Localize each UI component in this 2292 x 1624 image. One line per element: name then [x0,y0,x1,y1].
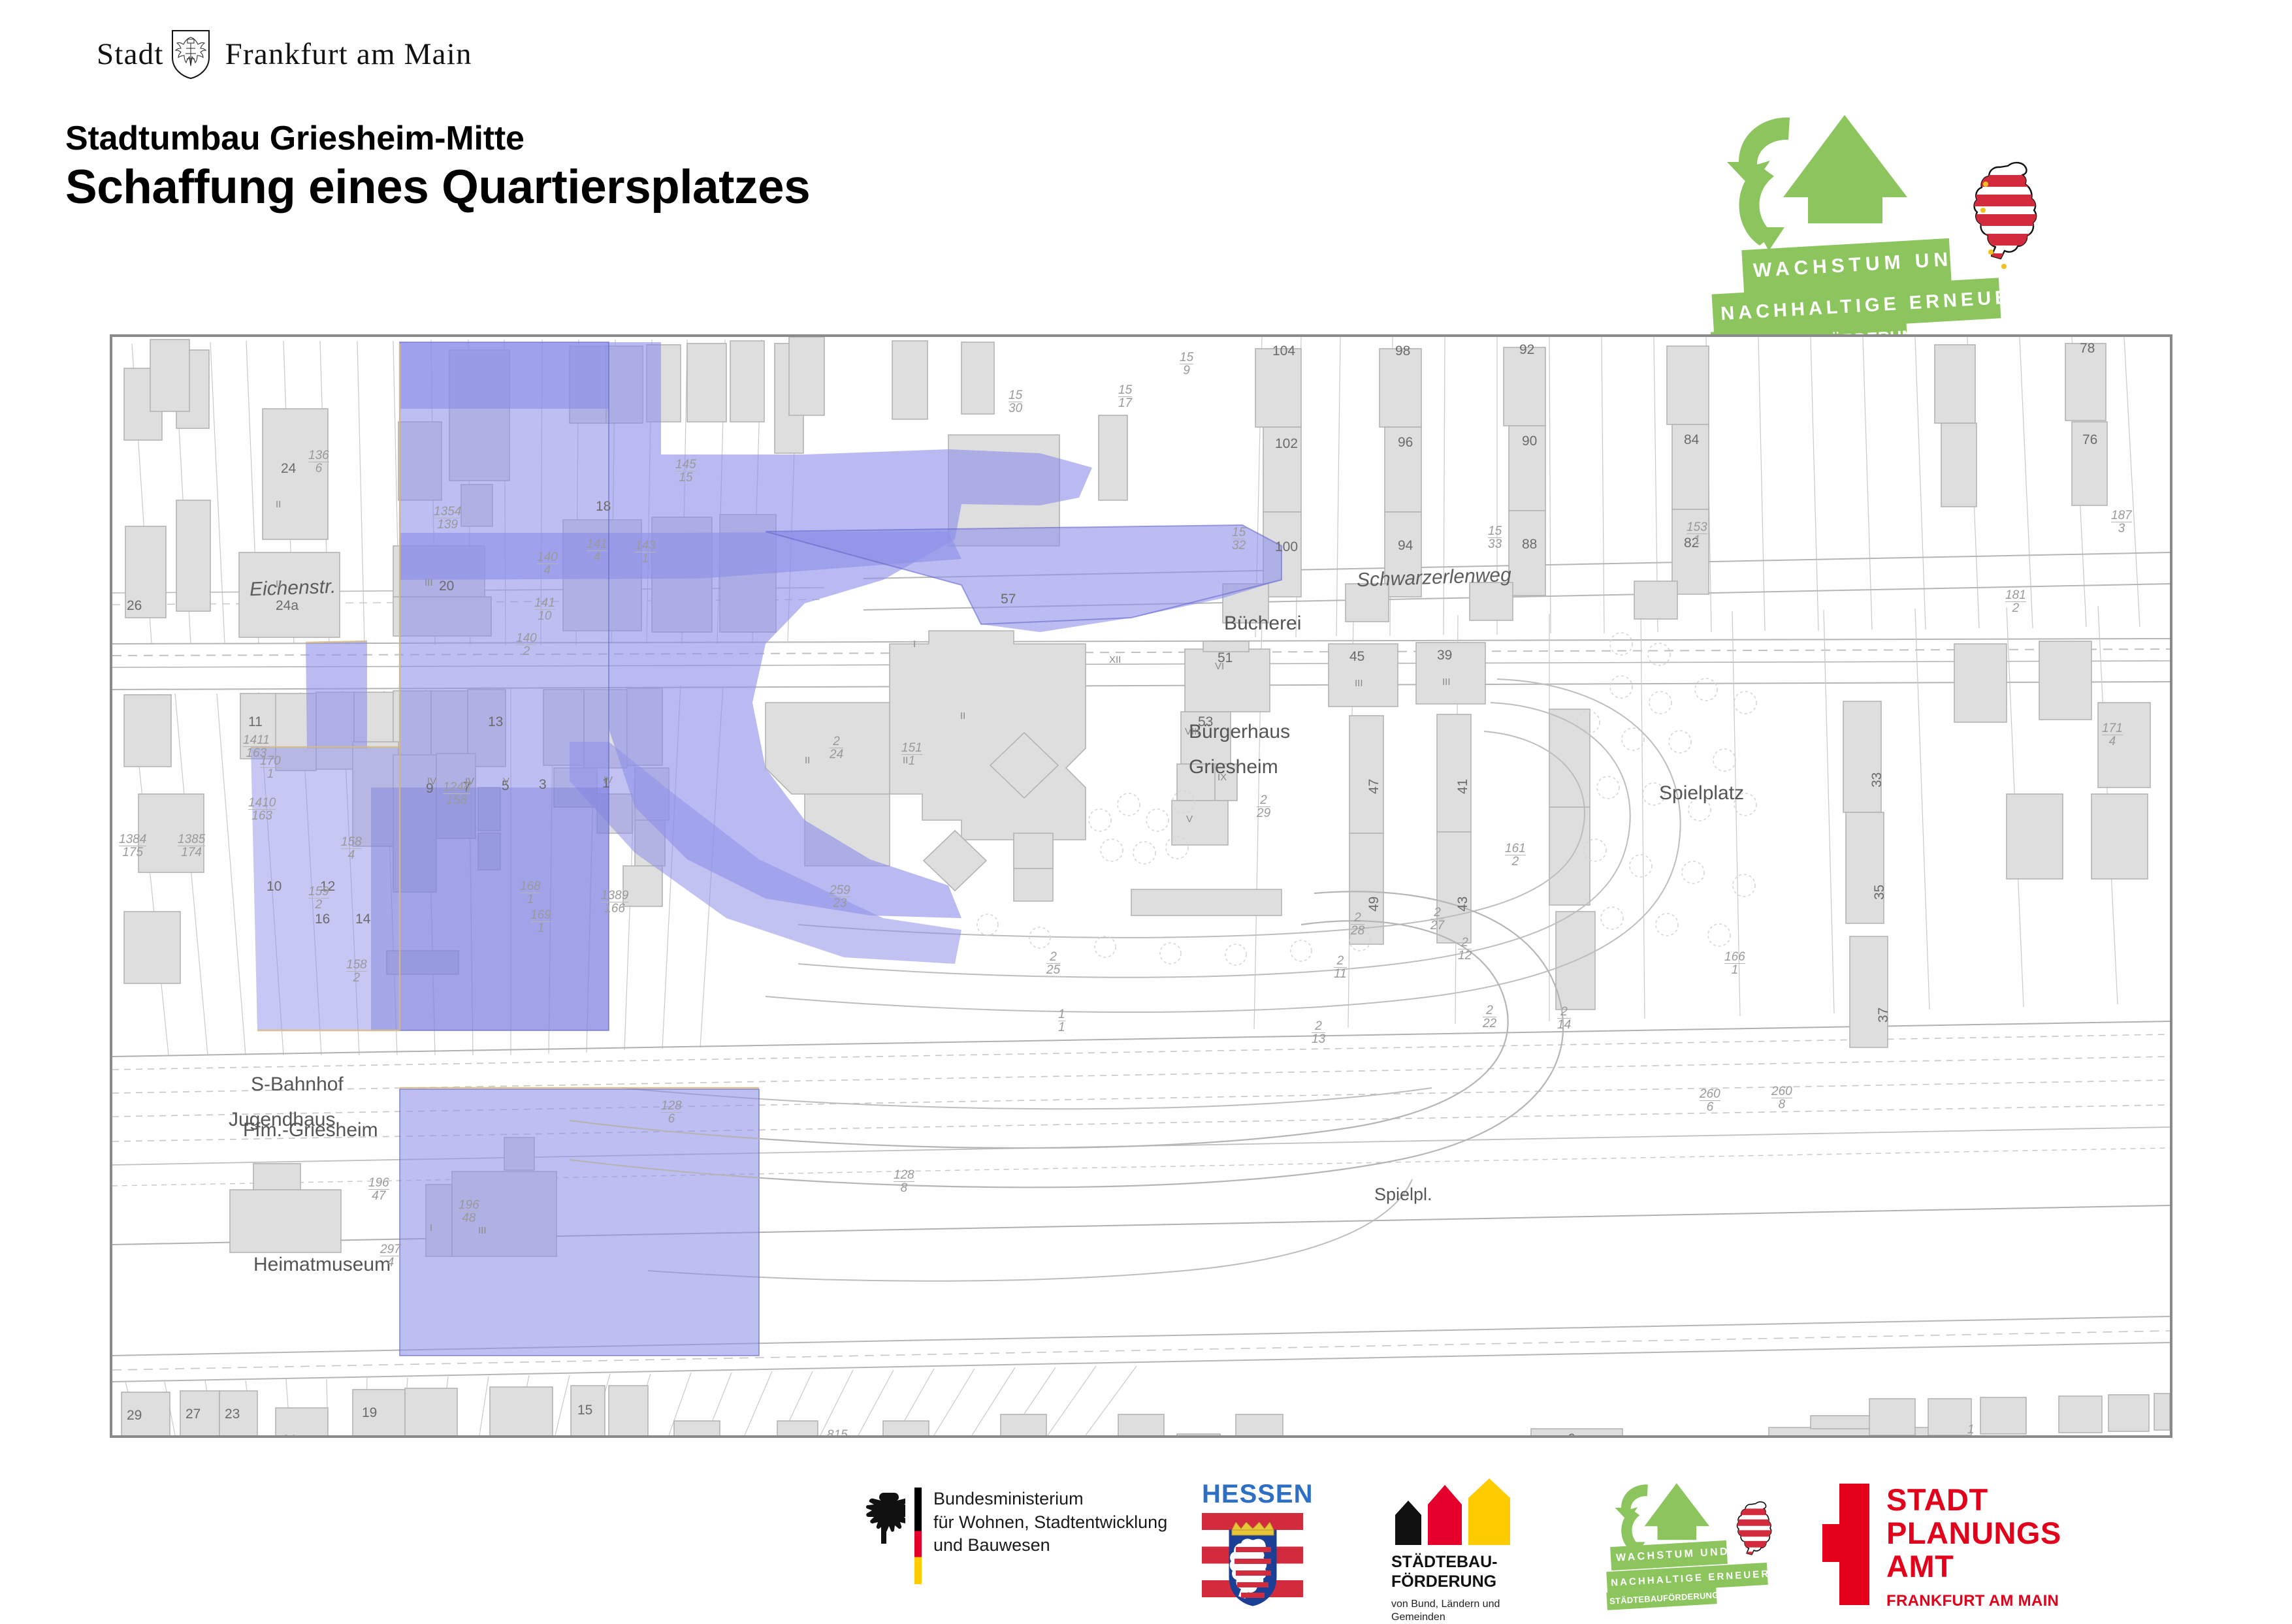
parcel-fraction: 1385174 [178,833,205,859]
building-number: 24 [281,461,296,477]
parcel-fraction: 222 [1483,1004,1496,1030]
staedtebaufoerderung-sub: von Bund, Ländern und Gemeinden [1391,1598,1535,1624]
parcel-fraction: 224 [830,735,843,761]
staedtebaufoerderung-name: STÄDTEBAU- FÖRDERUNG [1391,1553,1535,1591]
floor-mark: VIII [1185,726,1200,737]
map-canvas[interactable] [112,337,2170,1435]
wne-small-logo: WACHSTUM UND NACHHALTIGE ERNEUERUNG STÄD… [1607,1480,1803,1610]
page-title: Schaffung eines Quartiersplatzes [65,160,810,214]
parcel-fraction: 227 [1430,906,1444,932]
building-number: 53 [1198,714,1213,730]
parcel-fraction: 1592 [308,885,329,911]
parcel-fraction: 1584 [341,836,362,861]
frankfurt-city-mark-icon [1822,1484,1869,1605]
parcel-fraction: 228 [1351,912,1364,937]
parcel-fraction: 1366 [308,449,329,475]
building-number: 92 [1519,342,1534,358]
parcel-fraction: 159 [1180,351,1193,377]
parcel-fraction: 2606 [1700,1088,1720,1113]
building-number: 100 [1275,539,1298,555]
building-number: 33 [1869,772,1885,788]
label-heimatmuseum: Heimatmuseum [253,1254,391,1276]
building-number: 37 [1876,1008,1892,1023]
parcel-fraction: 1532 [1232,526,1246,552]
parcel-fraction: 1402 [516,632,537,658]
bmwsb-name: Bundesministerium für Wohnen, Stadtentwi… [933,1488,1167,1557]
staedtebaufoerderung-logo: STÄDTEBAU- FÖRDERUNG von Bund, Ländern u… [1391,1480,1535,1624]
building-number: 47 [1366,779,1382,794]
building-number: 23 [225,1407,240,1422]
building-number: 96 [1398,435,1413,451]
building-number: 84 [1684,432,1699,448]
parcel-fraction: 19647 [368,1177,389,1202]
parcel-fraction: 1714 [2102,722,2123,748]
floor-mark: III [1442,677,1451,688]
parcel-fraction: 211 [1334,955,1347,980]
parcel-fraction: 2974 [380,1243,401,1269]
building-number: 104 [1272,343,1295,359]
parcel-fraction: 1404 [537,551,558,577]
label-s-bahnhof: S-Bahnhof [251,1074,344,1096]
bmwsb-logo: Bundesministerium für Wohnen, Stadtentwi… [862,1488,1167,1584]
street-label-obere-ruetzelstr: Obere Rützelstr. [577,1436,600,1438]
floor-mark: I [607,499,610,510]
building-number: 41 [1455,779,1471,794]
building-number: 94 [1398,538,1413,554]
parcel-fraction: 1691 [530,909,551,934]
parcel-fraction: 1354139 [434,505,461,531]
floor-mark: III [478,1225,487,1236]
parcel-fraction: 1531 [1687,521,1707,547]
parcel-fraction: 1389166 [601,889,628,915]
building-number: 13 [488,714,503,730]
parcel-fraction: 1414 [587,538,607,564]
building-number: 35 [1872,885,1888,900]
parcel-fraction: 212 [1458,936,1472,962]
floor-mark: II [903,755,908,766]
parcel-fraction: 815277 [827,1429,848,1438]
parcel-fraction: 229 [1257,794,1270,820]
floor-mark: II [276,579,281,590]
hessen-lion-icon [1735,1497,1778,1569]
building-number: 76 [2082,432,2097,448]
cadastral-map[interactable]: Eichenstr. Schwarzerlenweg S-Bahnhof Ffm… [110,334,2172,1438]
parcel-fraction: 19648 [459,1199,479,1224]
hessen-flag-icon [1202,1513,1303,1614]
floor-mark: V [503,776,509,787]
hessen-lion-icon [1970,154,2048,278]
parcel-fraction: 1873 [2111,509,2132,535]
german-flag-bar-icon [914,1488,922,1584]
building-number: 39 [1437,648,1452,663]
building-number: 29 [127,1408,142,1424]
building-number: 49 [1366,897,1382,912]
floor-mark: V [1186,814,1193,825]
city-logo: Stadt Frankfurt am Main [97,31,472,77]
floor-mark: II [229,1437,234,1438]
building-number: 78 [2080,341,2095,357]
frankfurt-eagle-crest-icon [170,29,211,80]
floor-mark: XII [1109,654,1121,665]
floor-mark: II [805,755,810,766]
building-number: 11 [248,714,263,730]
building-number: 6 [1568,1431,1575,1438]
parcel-fraction: 1431 [635,539,656,565]
hessen-wordmark: HESSEN [1202,1480,1303,1509]
floor-mark: I [430,1222,432,1234]
parcel-fraction: 17 [1967,1424,1975,1438]
parcel-fraction: 11 [1058,1008,1065,1034]
building-number: 19 [362,1405,377,1421]
building-number: 14 [355,912,370,927]
parcel-fraction: 1612 [1505,842,1526,868]
street-label-eichenstr: Eichenstr. [249,576,336,601]
floor-mark: II [276,499,281,510]
bundesadler-icon [862,1490,905,1546]
floor-mark: II [960,710,965,722]
stadtplanungsamt-logo: STADT PLANUNGS AMT FRANKFURT AM MAIN [1822,1484,2061,1610]
parcel-fraction: 1533 [1488,525,1502,550]
city-logo-right-word: Frankfurt am Main [225,37,472,72]
building-number: 21 [282,1433,297,1438]
parcel-fraction: 1410163 [248,797,276,822]
parcel-fraction: 1384175 [119,833,146,859]
city-logo-left-word: Stadt [97,37,164,72]
wachstum-nachhaltige-erneuerung-badge: WACHSTUM UND NACHHALTIGE ERNEUERUNG STÄD… [1711,111,2169,372]
parcel-fraction: 214 [1557,1006,1571,1031]
parcel-fraction: 1517 [1118,384,1132,409]
building-number: 88 [1522,537,1537,552]
building-number: 24a [276,598,299,614]
parcel-fraction: 225 [1046,951,1060,976]
floor-mark: IV [579,1435,588,1438]
parcel-fraction: 1582 [346,959,367,984]
floor-mark: III [425,577,433,588]
floor-mark: III [1355,678,1363,689]
three-houses-icon [1391,1480,1535,1545]
label-buecherei: Bücherei [1224,613,1301,635]
stadtplanungsamt-name: STADT PLANUNGS AMT FRANKFURT AM MAIN [1886,1484,2061,1610]
funding-logo-strip: Bundesministerium für Wohnen, Stadtentwi… [0,1471,2292,1619]
hessen-logo: HESSEN [1202,1480,1303,1614]
floor-mark: VI [1215,661,1224,672]
building-number: 26 [127,598,142,614]
building-number: 10 [266,879,282,895]
building-number: 45 [1349,649,1364,665]
parcel-fraction: 213 [1312,1020,1325,1045]
floor-mark: IV [604,774,613,786]
building-number: 27 [186,1407,201,1422]
parcel-fraction: 1530 [1009,389,1022,415]
building-number: 98 [1395,343,1410,359]
hessen-lion-shield-icon [1227,1522,1279,1610]
label-spielplatz: Spielplatz [1659,782,1744,804]
parcel-fraction: 1701 [260,755,281,780]
parcel-fraction: 1661 [1724,951,1745,976]
parcel-fraction: 14515 [675,458,696,484]
parcel-fraction: 25923 [830,884,850,910]
building-number: 90 [1522,434,1537,449]
floor-mark: IX [1218,772,1227,783]
building-number: 3 [539,777,547,793]
page-subtitle: Stadtumbau Griesheim-Mitte [65,119,525,158]
floor-mark: II [189,1437,195,1438]
building-number: 102 [1275,436,1298,452]
floor-mark: IV [465,776,474,787]
parcel-fraction: 1286 [661,1100,682,1125]
building-number: 16 [315,912,330,927]
parcel-fraction: 14110 [534,597,555,622]
building-number: 43 [1455,897,1471,912]
building-number: 57 [1001,592,1016,607]
label-jugendhaus: Jugendhaus [229,1109,335,1131]
floor-mark: I [913,639,916,650]
label-griesheim: Griesheim [1189,756,1278,778]
parcel-fraction: 1812 [2005,589,2026,614]
building-number: 20 [439,579,454,594]
parcel-fraction: 1681 [520,880,541,906]
building-number: 15 [577,1403,592,1418]
label-spielpl: Spielpl. [1374,1185,1432,1205]
parcel-fraction: 1288 [894,1169,914,1194]
parcel-fraction: 2608 [1771,1085,1792,1111]
floor-mark: IV [427,776,436,787]
